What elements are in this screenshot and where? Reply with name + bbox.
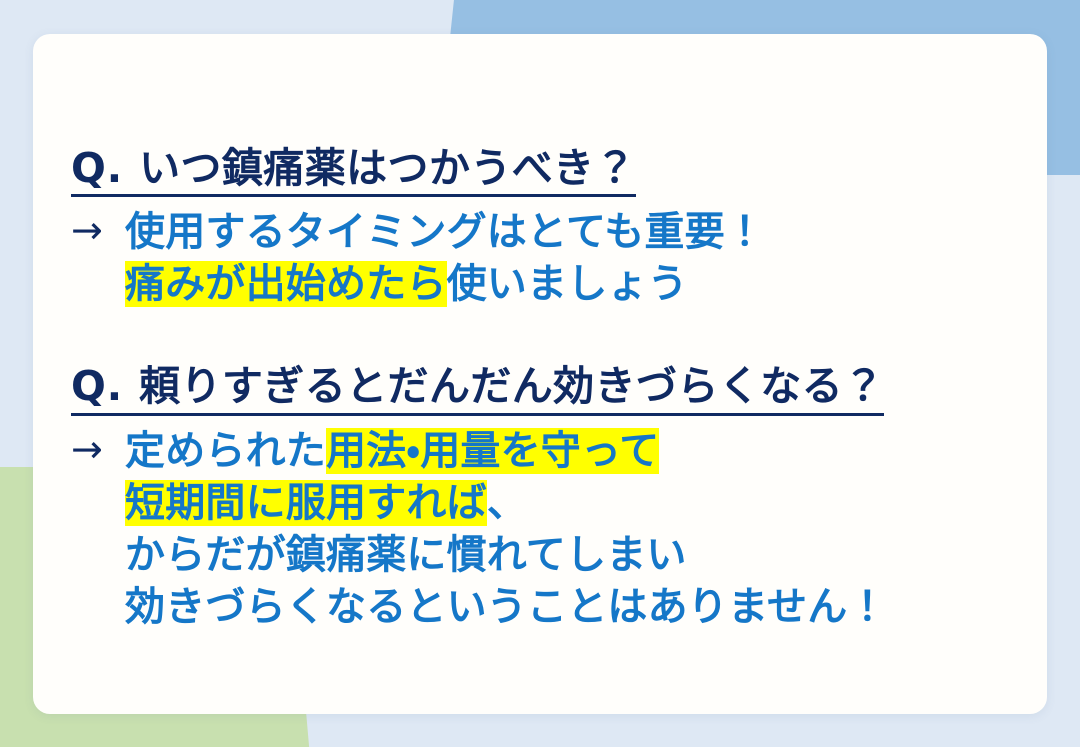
qa-block-2: Q.頼りすぎるとだんだん効きづらくなる？ → 定められた用法・用量を守って 短期… (71, 362, 1027, 632)
answer-segment: 使用するタイミングはとても重要！ (125, 209, 765, 255)
arrow-icon-2: → (71, 425, 103, 474)
question-1: Q.いつ鎮痛薬はつかうべき？ (71, 144, 636, 197)
question-marker-1: Q. (71, 144, 123, 192)
answer-line: 使用するタイミングはとても重要！ (125, 206, 1027, 258)
answer-segment: 定められた (125, 428, 326, 474)
arrow-icon-1: → (71, 206, 103, 255)
question-2: Q.頼りすぎるとだんだん効きづらくなる？ (71, 362, 884, 415)
answer-line: 定められた用法・用量を守って (125, 425, 1027, 477)
answer-segment-highlighted: 痛みが出始めたら (125, 261, 447, 307)
answer-line: 痛みが出始めたら使いましょう (125, 258, 1027, 310)
answer-segment: 使いましょう (447, 261, 688, 307)
answer-line: からだが鎮痛薬に慣れてしまい (125, 529, 1027, 581)
qa-block-1: Q.いつ鎮痛薬はつかうべき？ → 使用するタイミングはとても重要！ 痛みが出始め… (71, 144, 1027, 310)
question-text-2: 頼りすぎるとだんだん効きづらくなる？ (139, 362, 884, 410)
answer-line: 効きづらくなるということはありません！ (125, 581, 1027, 633)
answer-2: → 定められた用法・用量を守って 短期間に服用すれば、 からだが鎮痛薬に慣れてし… (71, 425, 1027, 633)
question-marker-2: Q. (71, 362, 123, 410)
question-text-1: いつ鎮痛薬はつかうべき？ (139, 144, 636, 192)
answer-segment-highlighted: 短期間に服用すれば (125, 480, 487, 526)
answer-line: 短期間に服用すれば、 (125, 477, 1027, 529)
answer-segment: 効きづらくなるということはありません！ (125, 584, 888, 630)
answer-segment: 、 (487, 480, 527, 526)
answer-1: → 使用するタイミングはとても重要！ 痛みが出始めたら使いましょう (71, 206, 1027, 310)
slide-root: Q.いつ鎮痛薬はつかうべき？ → 使用するタイミングはとても重要！ 痛みが出始め… (0, 0, 1080, 747)
qa-list: Q.いつ鎮痛薬はつかうべき？ → 使用するタイミングはとても重要！ 痛みが出始め… (71, 144, 1027, 639)
content-card: Q.いつ鎮痛薬はつかうべき？ → 使用するタイミングはとても重要！ 痛みが出始め… (33, 34, 1047, 714)
answer-segment-highlighted: 用法・用量を守って (326, 428, 659, 474)
answer-segment: からだが鎮痛薬に慣れてしまい (125, 532, 687, 578)
